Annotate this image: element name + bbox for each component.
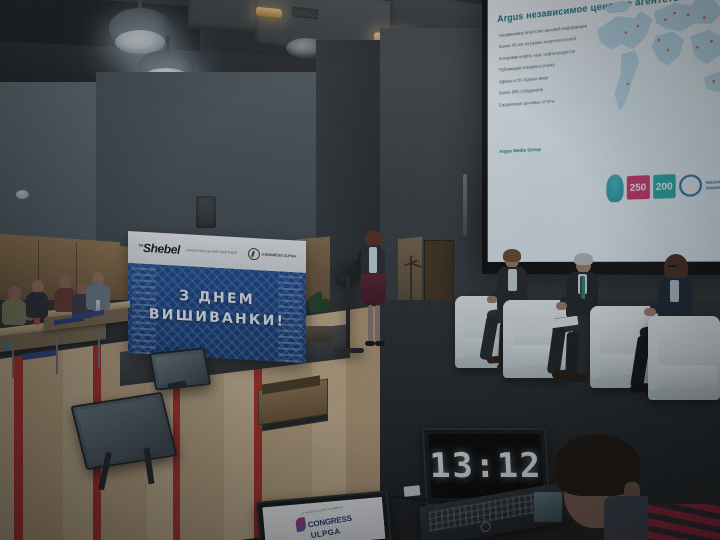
banner-partner-name: CONGRESS ULPGA <box>262 252 296 258</box>
plant-pot <box>306 326 332 342</box>
projection-screen-surface: Argus независимое ценовое агентство Неза… <box>488 0 720 262</box>
slide-logo-row: 250 200 MEDIA AWARDS <box>606 165 720 207</box>
award-label: MEDIA AWARDS <box>706 178 720 190</box>
speaker-presenter <box>358 232 390 356</box>
panelist-3-hand <box>644 308 656 316</box>
partner-mark-icon <box>248 248 260 261</box>
panelist-3-hair <box>664 254 688 280</box>
event-banner: TMShebel СПОНСОРСЬКИЙ ПАРТНЕР CONGRESS U… <box>128 231 306 363</box>
panelist-3-top <box>670 280 679 302</box>
world-map-graphic <box>590 0 720 152</box>
congress-mark-icon <box>295 516 307 531</box>
congress-logo: ІІІ УКРАЇНСЬКИЙ ГАЗОВИЙ CONGRESS ULPGA <box>294 504 354 540</box>
congress-logo-main: CONGRESS <box>307 513 352 529</box>
speaker-arm-left <box>361 250 367 276</box>
audience-2-body <box>26 292 48 318</box>
audience-1-head <box>8 286 21 300</box>
armchair-seat <box>651 365 717 387</box>
attendee-collar <box>604 496 648 540</box>
floor-monitor-screen <box>77 397 172 464</box>
paper-cup <box>34 318 40 325</box>
armchair[interactable] <box>648 316 720 400</box>
panelist-2-shin-2 <box>565 332 579 378</box>
speaker-arm-right <box>379 250 385 274</box>
panelist-2-shoe-2 <box>564 374 587 382</box>
desk-leg <box>56 336 58 374</box>
armchair-armrest <box>648 340 658 390</box>
podium-post <box>346 276 350 352</box>
speaker-blouse <box>369 247 377 273</box>
award-figure-icon <box>606 174 623 202</box>
panelist-3-glasses <box>668 265 677 267</box>
banner-partner-caption: СПОНСОРСЬКИЙ ПАРТНЕР <box>186 248 238 255</box>
armchair-back <box>648 316 720 356</box>
hp-logo-icon <box>480 521 490 533</box>
banner-brand: TMShebel <box>138 241 180 257</box>
panelist-1-shirt <box>508 269 517 291</box>
armchair-armrest <box>455 316 464 359</box>
panelist-1-hand <box>487 296 497 303</box>
banner-brand-name: Shebel <box>143 241 180 257</box>
potted-plant <box>306 296 332 342</box>
laptop-congress-screen: ІІІ УКРАЇНСЬКИЙ ГАЗОВИЙ CONGRESS ULPGA <box>262 497 385 540</box>
wall-speaker <box>196 196 216 228</box>
speaker-leg-right <box>375 305 380 343</box>
panelist-2-hand <box>556 302 567 310</box>
speaker-shoe-left <box>365 341 375 346</box>
attendee-foreground <box>540 438 720 540</box>
speaker-shoe-right <box>375 341 385 346</box>
carpet-stripe <box>0 357 14 540</box>
carpet-stripe <box>23 350 63 540</box>
panelist-1-hair <box>503 249 521 262</box>
badge-250: 250 <box>627 175 650 199</box>
paper-cup <box>4 342 10 351</box>
desk-leg <box>98 330 100 368</box>
badge-200: 200 <box>653 174 676 199</box>
projection-screen: Argus независимое ценовое агентство Неза… <box>482 0 720 275</box>
desk-leg <box>12 340 14 378</box>
award-circle-icon <box>679 174 702 197</box>
slide-subtitle: Argus Media Group <box>499 147 541 154</box>
armchair-armrest <box>503 322 513 369</box>
conference-hall-photo: Argus независимое ценовое агентство Неза… <box>0 0 720 540</box>
foreground-device <box>534 492 562 522</box>
carpet-stripe-red <box>14 356 23 540</box>
wall-strip-light <box>463 174 467 236</box>
banner-partner-logo: CONGRESS ULPGA <box>248 248 296 263</box>
speaker-hair <box>365 230 382 246</box>
panelist-2-hair <box>574 253 593 265</box>
speaker-leg-left <box>368 305 373 343</box>
banner-body: З ДНЕМ ВИШИВАНКИ! <box>128 263 306 363</box>
power-adapter <box>404 485 421 497</box>
speaker-skirt <box>361 274 386 306</box>
congress-slide: ІІІ УКРАЇНСЬКИЙ ГАЗОВИЙ CONGRESS ULPGA <box>262 497 385 540</box>
armchair-armrest <box>590 329 600 378</box>
smoke-detector <box>16 190 29 199</box>
